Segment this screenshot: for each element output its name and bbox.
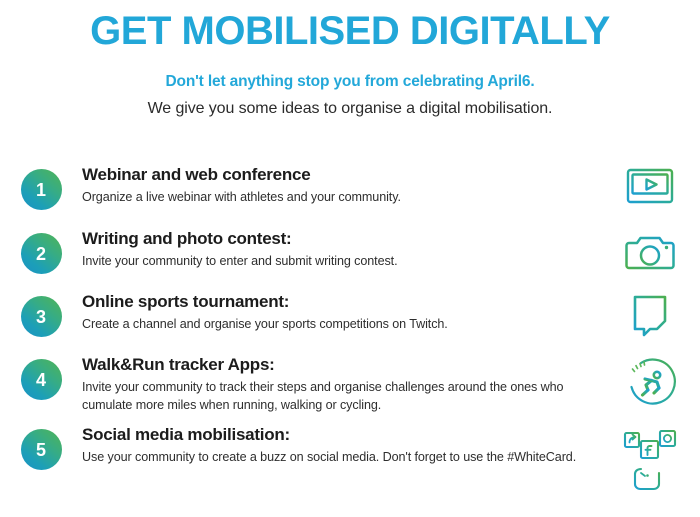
running-tracker-icon (621, 355, 679, 411)
icon-cell (600, 425, 700, 493)
item-title: Writing and photo contest: (82, 229, 590, 249)
badge-cell: 4 (0, 355, 82, 400)
subtitle-bold: Don't let anything stop you from celebra… (0, 52, 700, 91)
social-media-hand-icon (619, 425, 681, 493)
list-item: 5 Social media mobilisation: Use your co… (0, 425, 700, 493)
icon-cell (600, 229, 700, 277)
item-title: Webinar and web conference (82, 165, 590, 185)
badge-cell: 3 (0, 292, 82, 337)
text-cell: Webinar and web conference Organize a li… (82, 165, 600, 207)
subtitle-regular: We give you some ideas to organise a dig… (0, 91, 700, 118)
icon-cell (600, 292, 700, 344)
text-cell: Online sports tournament: Create a chann… (82, 292, 600, 334)
item-description: Invite your community to enter and submi… (82, 249, 582, 271)
item-title: Social media mobilisation: (82, 425, 590, 445)
list-item: 4 Walk&Run tracker Apps: Invite your com… (0, 355, 700, 415)
header: GET MOBILISED DIGITALLY Don't let anythi… (0, 0, 700, 118)
item-number-badge: 4 (21, 359, 62, 400)
item-title: Online sports tournament: (82, 292, 590, 312)
item-description: Invite your community to track their ste… (82, 375, 582, 415)
page-title: GET MOBILISED DIGITALLY (0, 10, 700, 52)
icon-cell (600, 165, 700, 217)
badge-cell: 1 (0, 165, 82, 210)
item-description: Create a channel and organise your sport… (82, 312, 582, 334)
text-cell: Writing and photo contest: Invite your c… (82, 229, 600, 271)
camera-icon (621, 229, 679, 277)
text-cell: Walk&Run tracker Apps: Invite your commu… (82, 355, 600, 415)
badge-cell: 5 (0, 425, 82, 470)
item-number-badge: 3 (21, 296, 62, 337)
list-item: 2 Writing and photo contest: Invite your… (0, 229, 700, 277)
item-number-badge: 2 (21, 233, 62, 274)
list-item: 1 Webinar and web conference Organize a … (0, 165, 700, 217)
monitor-play-icon (620, 165, 680, 217)
list-item: 3 Online sports tournament: Create a cha… (0, 292, 700, 344)
badge-cell: 2 (0, 229, 82, 274)
twitch-icon (625, 292, 675, 344)
item-title: Walk&Run tracker Apps: (82, 355, 590, 375)
icon-cell (600, 355, 700, 411)
item-description: Use your community to create a buzz on s… (82, 445, 582, 467)
item-description: Organize a live webinar with athletes an… (82, 185, 582, 207)
text-cell: Social media mobilisation: Use your comm… (82, 425, 600, 467)
item-number-badge: 5 (21, 429, 62, 470)
item-number-badge: 1 (21, 169, 62, 210)
